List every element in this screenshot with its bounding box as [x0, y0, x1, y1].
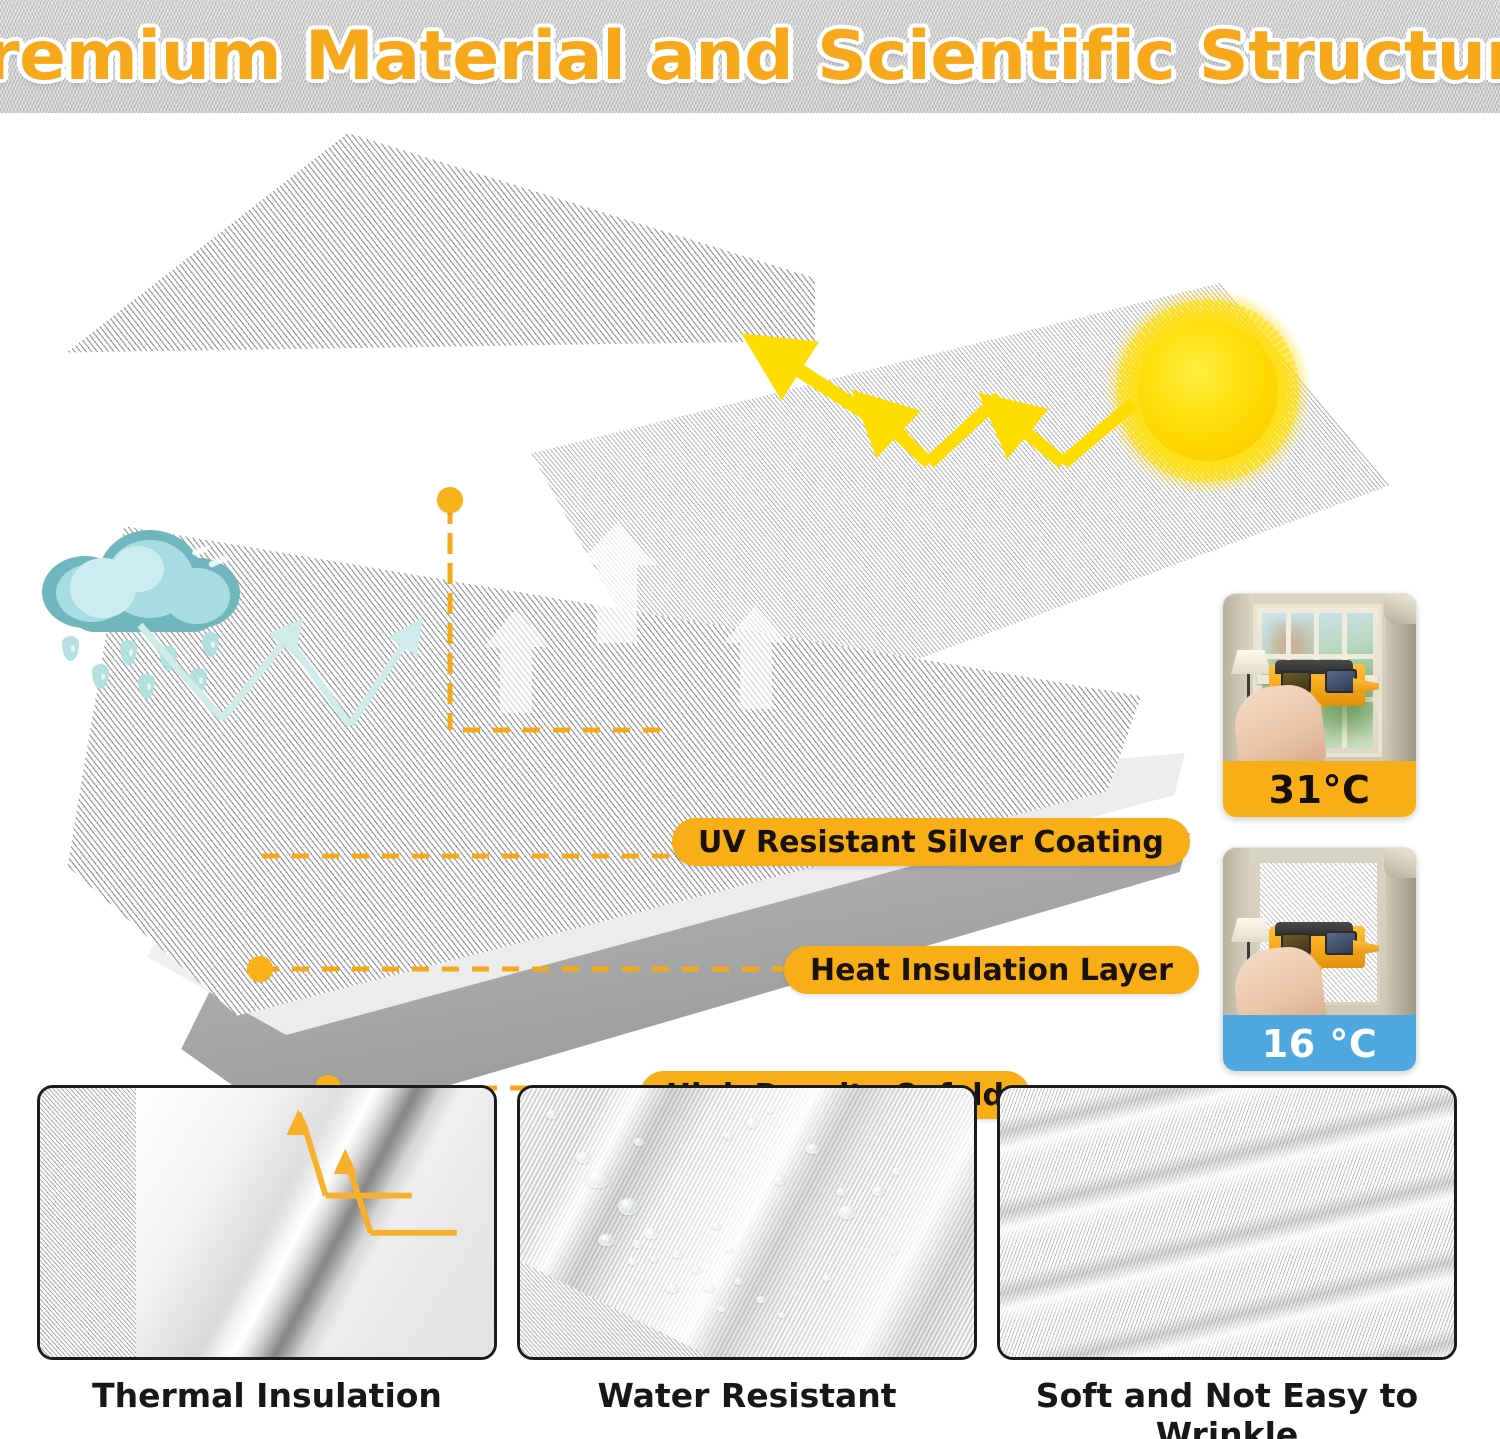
- rain-drop-icon: [62, 636, 79, 661]
- infographic-page: Premium Material and Scientific Structur…: [0, 0, 1500, 1439]
- feature-image-soft: [997, 1085, 1457, 1360]
- feature-image-thermal: [37, 1085, 497, 1360]
- feature-image-water: [517, 1085, 977, 1360]
- header-banner: Premium Material and Scientific Structur…: [0, 0, 1500, 113]
- rain-cloud-icon: [40, 528, 250, 728]
- callout-dot-uv: [437, 487, 463, 513]
- callout-label-uv: UV Resistant Silver Coating: [672, 818, 1190, 866]
- feature-label-thermal: Thermal Insulation: [37, 1376, 497, 1415]
- thermometer-window-photo: [1223, 594, 1416, 761]
- rain-drop-icon: [190, 668, 207, 693]
- main-illustration: UV Resistant Silver Coating Heat Insulat…: [0, 113, 1500, 1075]
- temperature-card-covered: 16 °C: [1222, 847, 1417, 1072]
- feature-card-thermal: Thermal Insulation: [37, 1085, 497, 1415]
- feature-label-water: Water Resistant: [517, 1376, 977, 1415]
- reflect-arrow-icon: [40, 1088, 494, 1357]
- callout-label-heat: Heat Insulation Layer: [784, 946, 1199, 994]
- sun-icon: [1108, 291, 1308, 491]
- temperature-value-uncovered: 31°C: [1223, 761, 1416, 818]
- rain-drop-icon: [138, 674, 155, 699]
- thermometer-covered-window-photo: [1223, 848, 1416, 1015]
- page-title: Premium Material and Scientific Structur…: [0, 17, 1500, 96]
- rain-drop-icon: [92, 664, 109, 689]
- feature-label-soft: Soft and Not Easy to Wrinkle: [997, 1376, 1457, 1439]
- rain-drop-icon: [120, 640, 137, 665]
- callout-dot-heat: [247, 956, 273, 982]
- feature-card-soft: Soft and Not Easy to Wrinkle: [997, 1085, 1457, 1439]
- feature-cards-row: Thermal Insulation: [0, 1085, 1500, 1439]
- rain-drop-icon: [202, 632, 219, 657]
- temperature-card-uncovered: 31°C: [1222, 593, 1417, 818]
- rain-drop-icon: [160, 646, 177, 671]
- temperature-value-covered: 16 °C: [1223, 1015, 1416, 1072]
- feature-card-water: Water Resistant: [517, 1085, 977, 1415]
